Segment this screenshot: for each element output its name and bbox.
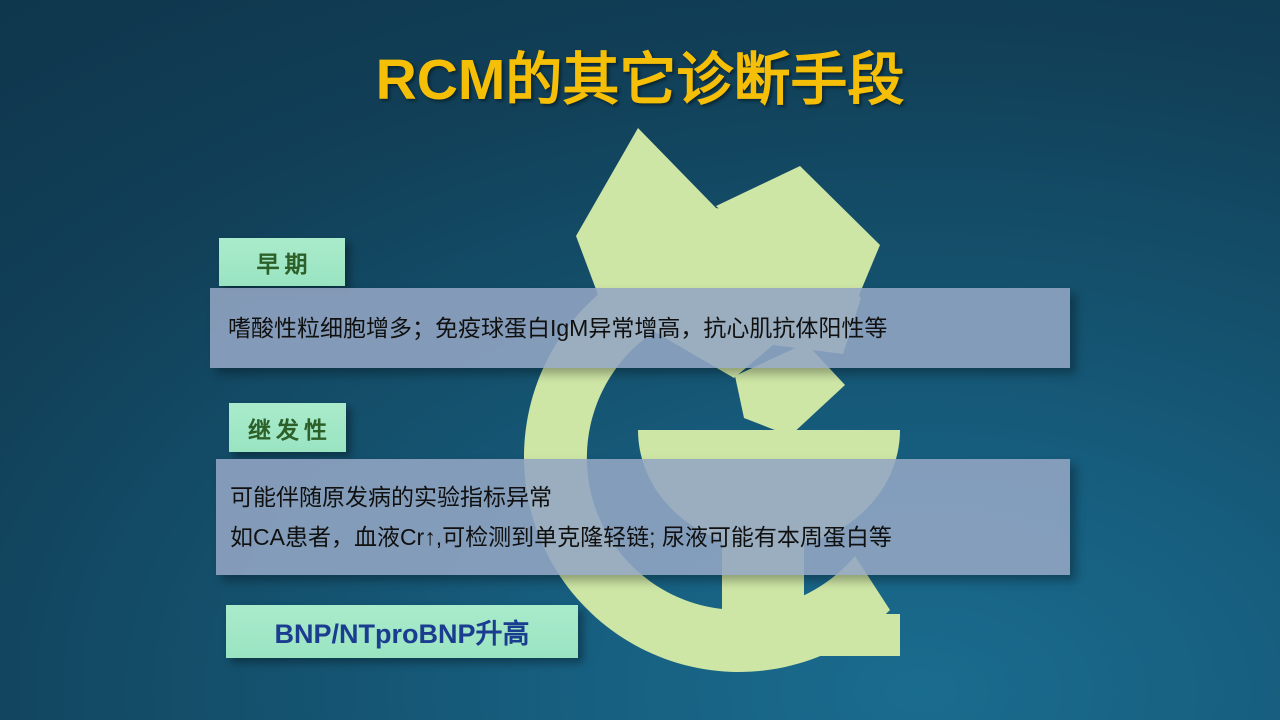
- page-title: RCM的其它诊断手段: [0, 34, 1280, 116]
- content-line: 可能伴随原发病的实验指标异常: [230, 482, 1070, 512]
- content-line: 如CA患者，血液Cr↑,可检测到单克隆轻链; 尿液可能有本周蛋白等: [230, 522, 1070, 552]
- tag-early: 早期: [219, 238, 345, 286]
- slide-canvas: RCM的其它诊断手段 早期 嗜酸性粒细胞增多；免疫球蛋白IgM异常增高，抗心肌抗…: [0, 0, 1280, 720]
- content-box-early: 嗜酸性粒细胞增多；免疫球蛋白IgM异常增高，抗心肌抗体阳性等: [210, 288, 1070, 368]
- content-box-secondary: 可能伴随原发病的实验指标异常 如CA患者，血液Cr↑,可检测到单克隆轻链; 尿液…: [216, 459, 1070, 575]
- tag-secondary: 继发性: [229, 403, 346, 452]
- content-line: 嗜酸性粒细胞增多；免疫球蛋白IgM异常增高，抗心肌抗体阳性等: [228, 313, 1070, 343]
- highlight-bnp: BNP/NTproBNP升高: [226, 605, 578, 658]
